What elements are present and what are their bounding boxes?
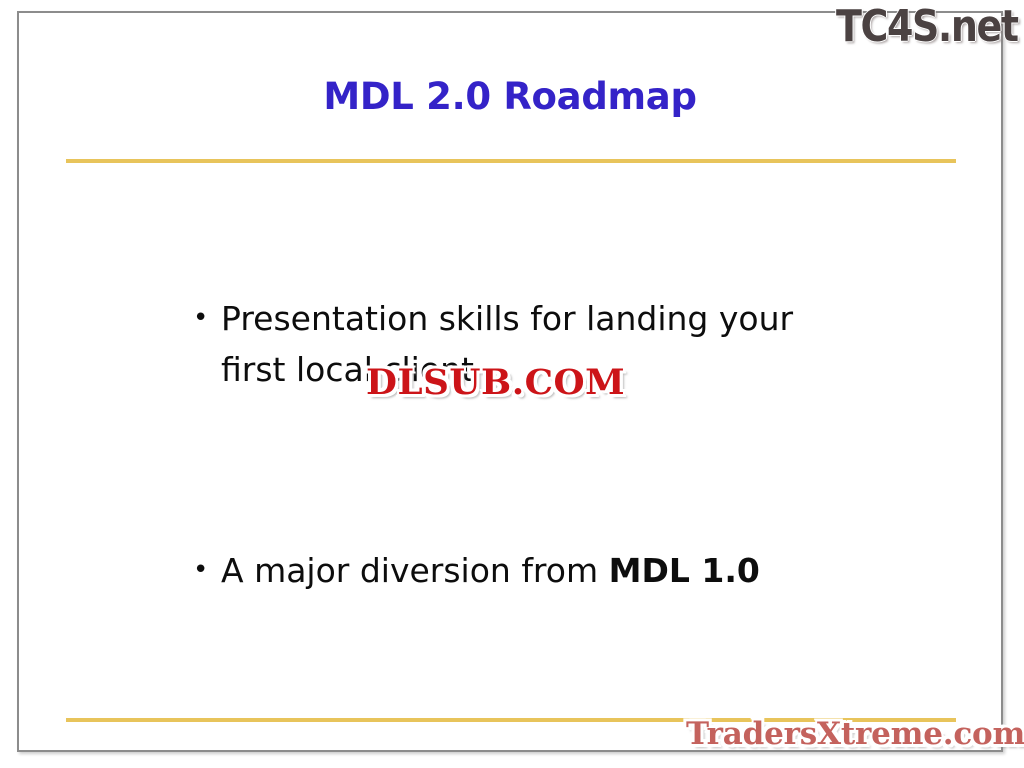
bullet-text-1: Presentation skills for landing your fir…	[221, 293, 861, 395]
bullet-marker-icon: •	[179, 545, 221, 596]
slide-body-bullet-list: • Presentation skills for landing your f…	[179, 293, 909, 596]
bullet-text-2: A major diversion from MDL 1.0	[221, 545, 861, 596]
bullet-text-2-bold: MDL 1.0	[609, 551, 760, 590]
divider-rule-bottom	[66, 718, 956, 722]
bullet-item-2: • A major diversion from MDL 1.0	[179, 545, 909, 596]
slide-frame: MDL 2.0 Roadmap • Presentation skills fo…	[17, 11, 1003, 752]
slide-title: MDL 2.0 Roadmap	[19, 75, 1001, 118]
bullet-text-2-normal: A major diversion from	[221, 551, 609, 590]
divider-rule-top	[66, 159, 956, 163]
bullet-marker-icon: •	[179, 293, 221, 344]
bullet-item-1: • Presentation skills for landing your f…	[179, 293, 909, 395]
